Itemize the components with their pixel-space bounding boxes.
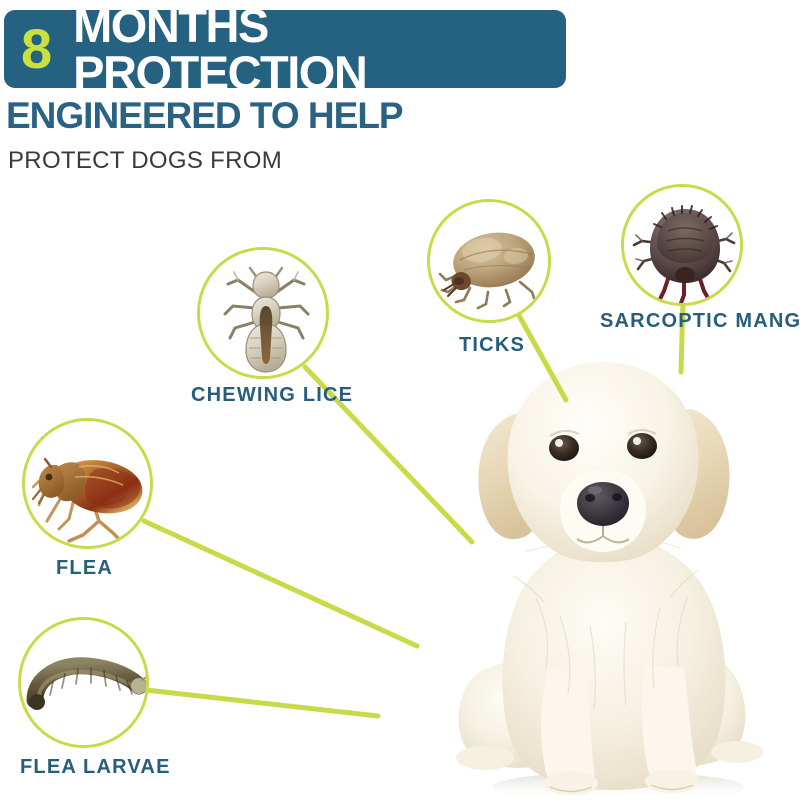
- tick-icon: [427, 199, 551, 323]
- subheading-protect-dogs: PROTECT DOGS FROM: [8, 149, 282, 173]
- banner-title: MONTHS PROTECTION: [73, 2, 566, 96]
- puppy-image: [440, 340, 790, 800]
- banner-number: 8: [21, 21, 51, 77]
- chewing-louse-icon: [197, 247, 329, 379]
- flea-larva-icon: [18, 617, 149, 748]
- callout-label-flea-larvae: FLEA LARVAE: [20, 757, 171, 777]
- callout-label-sarcoptic-mange: SARCOPTIC MANGE: [600, 311, 800, 331]
- flea-icon: [22, 418, 153, 549]
- subheading-engineered: ENGINEERED TO HELP: [6, 97, 403, 134]
- months-protection-banner: 8 MONTHS PROTECTION: [4, 10, 566, 88]
- infographic-canvas: 8 MONTHS PROTECTION ENGINEERED TO HELP P…: [0, 0, 800, 800]
- connector-flea-larvae: [146, 690, 378, 716]
- connector-flea: [144, 521, 417, 646]
- callout-label-ticks: TICKS: [459, 335, 525, 355]
- callout-label-chewing-lice: CHEWING LICE: [191, 385, 353, 405]
- callout-label-flea: FLEA: [56, 558, 113, 578]
- sarcoptic-mite-icon: [621, 184, 743, 306]
